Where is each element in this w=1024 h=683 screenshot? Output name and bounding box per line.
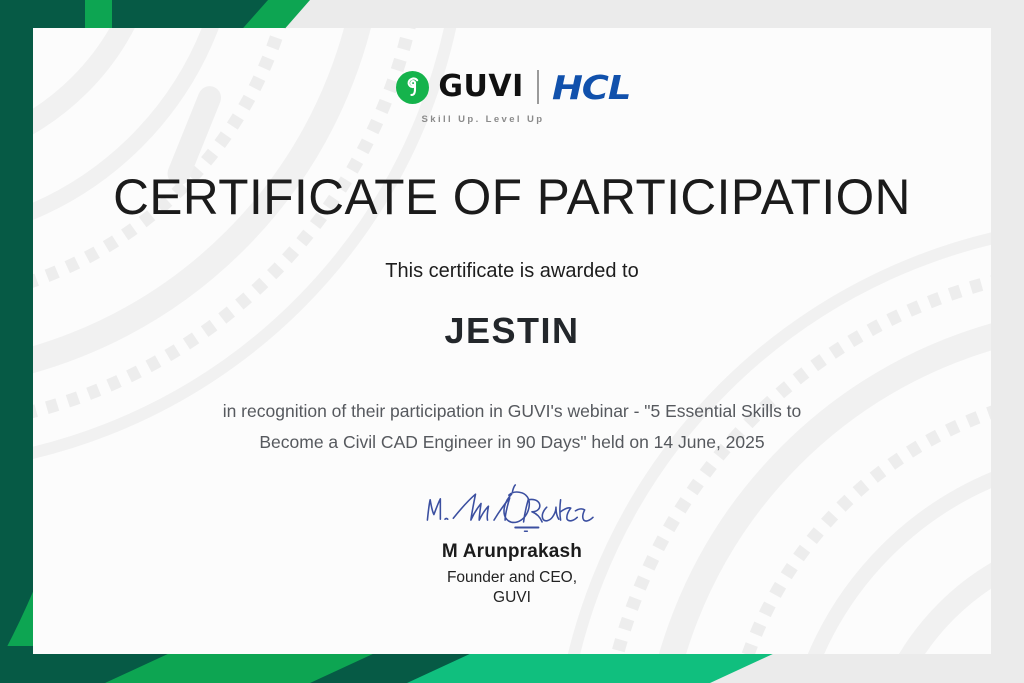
certificate-title: CERTIFICATE OF PARTICIPATION	[38, 168, 986, 226]
signer-role: Founder and CEO, GUVI	[447, 568, 577, 608]
guvi-logo: GUVI	[396, 71, 523, 104]
signer-role-line-2: GUVI	[447, 588, 577, 608]
description-line-1: in recognition of their participation in…	[113, 396, 911, 427]
certificate-description: in recognition of their participation in…	[113, 396, 911, 458]
signature-block: M Arunprakash Founder and CEO, GUVI	[33, 483, 991, 608]
guvi-wordmark: GUVI	[438, 72, 523, 102]
awarded-to-label: This certificate is awarded to	[33, 260, 991, 283]
recipient-name: JESTIN	[33, 310, 991, 352]
hcl-wordmark: HCL	[552, 71, 630, 104]
handwritten-signature-image	[420, 483, 605, 535]
logo-divider	[537, 70, 539, 104]
guvi-tagline: Skill Up. Level Up	[422, 114, 545, 125]
description-line-2: Become a Civil CAD Engineer in 90 Days" …	[113, 427, 911, 458]
signer-name: M Arunprakash	[442, 541, 582, 563]
certificate-card: GUVI HCL Skill Up. Level Up CERTIFICATE …	[33, 28, 991, 654]
signer-role-line-1: Founder and CEO,	[447, 568, 577, 588]
certificate-page: GUVI HCL Skill Up. Level Up CERTIFICATE …	[0, 0, 1024, 683]
logo-header: GUVI HCL Skill Up. Level Up	[33, 70, 991, 125]
guvi-glyph-icon	[396, 71, 429, 104]
